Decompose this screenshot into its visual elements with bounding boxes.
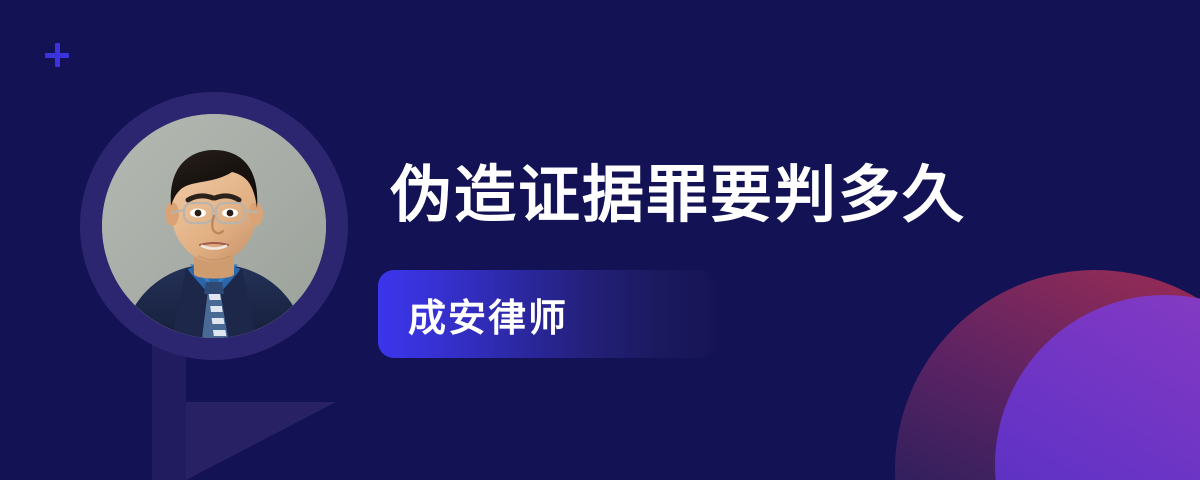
lawyer-name-label: 成安律师 [408, 287, 568, 342]
accent-triangle-decoration [186, 402, 336, 480]
plus-icon [45, 43, 69, 67]
law-topic-banner: 伪造证据罪要判多久 成安律师 [0, 0, 1200, 480]
status-badge: 成安律师 [378, 270, 716, 358]
crimson-circle-decoration [895, 270, 1200, 480]
avatar-photo [102, 114, 326, 338]
violet-circle-decoration [995, 295, 1200, 480]
page-title: 伪造证据罪要判多久 [390, 160, 966, 229]
avatar [80, 92, 348, 360]
